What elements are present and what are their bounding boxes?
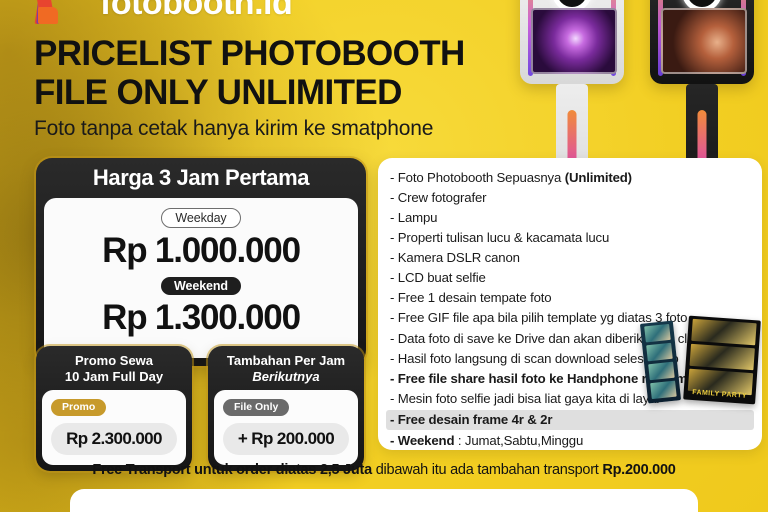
sample-print-4r: FAMILY PARTY — [683, 316, 761, 405]
kiosk-screen-preview — [531, 8, 617, 74]
transport-note: Free Transport untuk order diatas 2,5 Ju… — [0, 462, 768, 478]
price-card-header: Harga 3 Jam Pertama — [36, 158, 366, 198]
promo-card-body: File Only + Rp 200.000 — [214, 390, 358, 465]
promo-title-line-2: 10 Jam Full Day — [42, 369, 186, 385]
headline-subtitle: Foto tanpa cetak hanya kirim ke smatphon… — [34, 117, 504, 141]
weekend-price: Rp 1.300.000 — [44, 298, 358, 338]
brand-logo: fotobooth.id — [38, 0, 292, 24]
price-card-title: Harga 3 Jam Pertama — [93, 165, 309, 191]
kiosk-screen-preview — [661, 8, 747, 74]
brand-wordmark: fotobooth.id — [100, 0, 292, 24]
promo-card-body: Promo Rp 2.300.000 — [42, 390, 186, 465]
social-footer-bar: 088115000000fotobooth indonesiafotobooth… — [70, 489, 698, 512]
feature-item: - Foto Photobooth Sepuasnya (Unlimited) — [390, 168, 750, 188]
pricelist-poster: fotobooth.id PRICELIST PHOTOBOOTH FILE O… — [0, 0, 768, 512]
sample-print-2r — [640, 320, 681, 403]
fotobooth-logo-icon — [38, 0, 90, 24]
weekday-price: Rp 1.000.000 — [44, 231, 358, 271]
headline-line-1: PRICELIST PHOTOBOOTH — [34, 34, 504, 73]
features-panel: - Foto Photobooth Sepuasnya (Unlimited)-… — [378, 158, 762, 450]
feature-item: - Kamera DSLR canon — [390, 248, 750, 268]
promo-badge: File Only — [223, 399, 289, 416]
schedule-list: - Weekend : Jumat,Sabtu,MingguDan Tangga… — [390, 431, 750, 450]
feature-item: - Free 1 desain tempate foto — [390, 288, 750, 308]
promo-title-line-1: Tambahan Per Jam — [214, 353, 358, 369]
promo-amount: Rp 2.300.000 — [51, 423, 177, 455]
sample-prints-image: FAMILY PARTY — [640, 318, 758, 404]
promo-card-row: Promo Sewa 10 Jam Full Day Promo Rp 2.30… — [36, 346, 364, 471]
feature-item: - LCD buat selfie — [390, 268, 750, 288]
schedule-item: - Weekend : Jumat,Sabtu,Minggu — [390, 431, 750, 450]
promo-card-header: Tambahan Per Jam Berikutnya — [208, 346, 364, 390]
transport-mid: dibawah itu ada tambahan transport — [372, 462, 602, 478]
weekend-pill: Weekend — [161, 277, 241, 295]
transport-bold-1: Free Transport untuk order diatas 2,5 Ju… — [92, 462, 372, 478]
promo-card-header: Promo Sewa 10 Jam Full Day — [36, 346, 192, 390]
feature-item: - Lampu — [390, 208, 750, 228]
promo-card: Promo Sewa 10 Jam Full Day Promo Rp 2.30… — [36, 346, 192, 471]
feature-item: - Properti tulisan lucu & kacamata lucu — [390, 228, 750, 248]
promo-badge: Promo — [51, 399, 106, 416]
feature-item: - Crew fotografer — [390, 188, 750, 208]
transport-bold-2: Rp.200.000 — [602, 462, 675, 478]
promo-card: Tambahan Per Jam Berikutnya File Only + … — [208, 346, 364, 471]
feature-item: - Free desain frame 4r & 2r — [386, 410, 754, 430]
price-card-body: Weekday Rp 1.000.000 Weekend Rp 1.300.00… — [44, 198, 358, 358]
promo-amount: + Rp 200.000 — [223, 423, 349, 455]
promo-title-line-1: Promo Sewa — [42, 353, 186, 369]
headline-block: PRICELIST PHOTOBOOTH FILE ONLY UNLIMITED… — [34, 34, 504, 141]
headline-line-2: FILE ONLY UNLIMITED — [34, 73, 504, 112]
promo-title-line-2: Berikutnya — [252, 369, 319, 384]
weekday-pill: Weekday — [161, 208, 240, 228]
main-price-card: Harga 3 Jam Pertama Weekday Rp 1.000.000… — [36, 158, 366, 366]
